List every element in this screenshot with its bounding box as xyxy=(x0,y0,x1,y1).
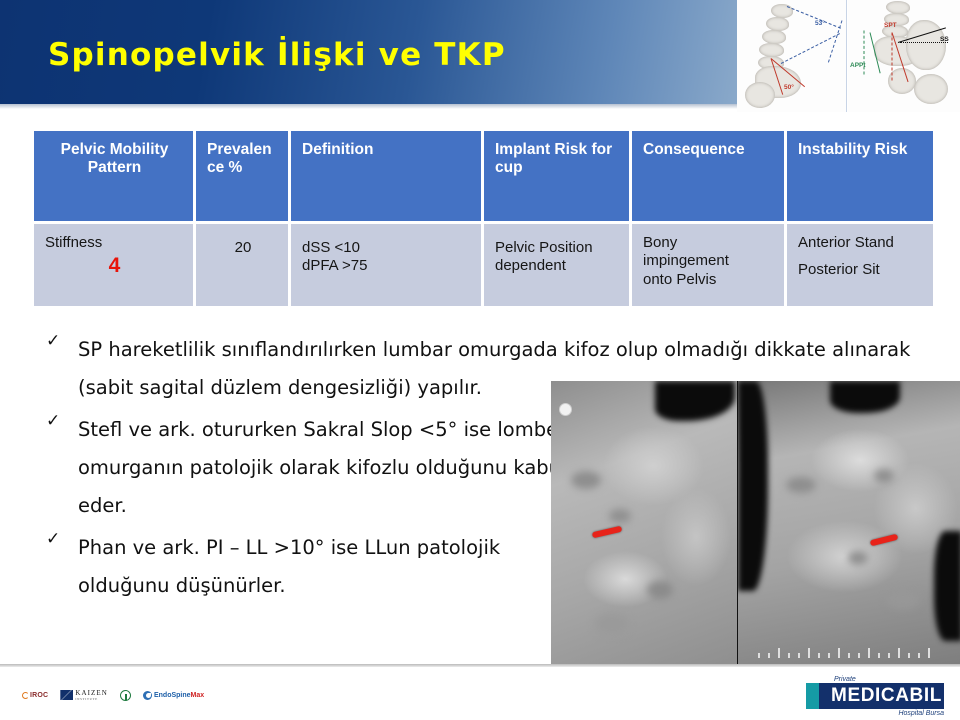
endospine-logo: EndoSpineMax xyxy=(143,691,204,700)
column-header-implant-risk: Implant Risk for cup xyxy=(484,131,632,221)
page-title: Spinopelvik İlişki ve TKP xyxy=(48,37,506,73)
title-banner-shadow xyxy=(0,104,737,109)
xray-image-left xyxy=(551,381,737,664)
list-item: ✓ Phan ve ark. PI – LL >10° ise LLun pat… xyxy=(40,529,570,605)
quality-circle-icon xyxy=(120,690,131,701)
endospine-text-b: Spine xyxy=(171,692,190,699)
xray-image-right xyxy=(738,381,960,664)
label-appt: APPt xyxy=(850,62,866,69)
endospine-text-c: Max xyxy=(191,692,205,699)
kaizen-logo-sub: INSTITUTE xyxy=(75,697,108,701)
implant-risk-line-1: Pelvic Position xyxy=(495,239,593,256)
instability-line-1: Anterior Stand xyxy=(798,234,894,251)
endospine-text-a: Endo xyxy=(154,692,172,699)
cell-instability-risk: Anterior Stand Posterior Sit xyxy=(787,224,933,306)
cell-pattern: Stiffness 4 xyxy=(34,224,196,306)
cell-prevalence: 20 xyxy=(196,224,291,306)
lateral-lumbar-xray-pair xyxy=(551,381,960,664)
quality-mark-logo xyxy=(120,690,131,701)
xray-annotation-line-right xyxy=(870,534,899,547)
medicabil-hospital-logo: Private MEDICABIL Hospital Bursa xyxy=(806,676,944,717)
implant-risk-line-2: dependent xyxy=(495,257,566,274)
bullet-text: Stefl ve ark. otururken Sakral Slop <5° … xyxy=(78,418,566,517)
label-spt: SPT xyxy=(884,22,897,29)
column-header-pelvic-mobility-pattern: Pelvic Mobility Pattern xyxy=(34,131,196,221)
definition-line-1: dSS <10 xyxy=(302,239,360,256)
slide-root: Spinopelvik İlişki ve TKP 53° 50° xyxy=(0,0,960,720)
footer-logo-group: IROC KAIZEN INSTITUTE EndoSpineMax xyxy=(22,684,204,706)
medicabil-teal-square-icon xyxy=(806,683,819,709)
kaizen-institute-logo: KAIZEN INSTITUTE xyxy=(60,689,108,701)
medicabil-sub-label: Hospital Bursa xyxy=(806,710,944,717)
angle-label-53: 53° xyxy=(815,20,825,27)
medicabil-navy-square-icon xyxy=(819,683,829,709)
iroc-logo: IROC xyxy=(22,692,48,699)
list-item: ✓ Stefl ve ark. otururken Sakral Slop <5… xyxy=(40,411,570,525)
kaizen-mark-icon xyxy=(60,690,73,700)
definition-line-2: dPFA >75 xyxy=(302,257,367,274)
table-row: Stiffness 4 20 dSS <10 dPFA >75 Pelvic P… xyxy=(34,224,933,306)
table-header-row: Pelvic Mobility Pattern Prevalen ce % De… xyxy=(34,131,933,221)
consequence-line-2: impingement xyxy=(643,252,729,269)
check-icon: ✓ xyxy=(46,531,60,548)
consequence-line-1: Bony xyxy=(643,234,677,251)
spinopelvic-parameters-diagram: 53° 50° APPt SPT SS xyxy=(737,0,960,112)
check-icon: ✓ xyxy=(46,413,60,430)
endospine-mark-icon xyxy=(143,691,152,700)
column-header-definition: Definition xyxy=(291,131,484,221)
cell-definition: dSS <10 dPFA >75 xyxy=(291,224,484,306)
cell-consequence: Bony impingement onto Pelvis xyxy=(632,224,787,306)
cell-pattern-label: Stiffness xyxy=(45,234,102,251)
kaizen-logo-text: KAIZEN xyxy=(75,689,108,697)
column-header-instability-risk: Instability Risk xyxy=(787,131,933,221)
image-badge-icon xyxy=(559,403,572,416)
check-icon: ✓ xyxy=(46,333,60,350)
bullet-text: Phan ve ark. PI – LL >10° ise LLun patol… xyxy=(78,536,500,597)
diagram-pane-left: 53° 50° xyxy=(737,0,847,112)
column-header-consequence: Consequence xyxy=(632,131,787,221)
footer-divider xyxy=(0,664,960,667)
instability-line-2: Posterior Sit xyxy=(798,261,880,278)
xray-scale-ruler xyxy=(758,648,938,658)
diagram-pane-right: APPt SPT SS xyxy=(848,0,960,112)
medicabil-private-label: Private xyxy=(834,676,944,683)
iroc-logo-text: IROC xyxy=(30,692,48,699)
consequence-line-3: onto Pelvis xyxy=(643,271,716,288)
column-header-prevalence: Prevalen ce % xyxy=(196,131,291,221)
pelvic-mobility-table: Pelvic Mobility Pattern Prevalen ce % De… xyxy=(34,131,933,306)
label-ss: SS xyxy=(940,36,949,43)
cell-implant-risk: Pelvic Position dependent xyxy=(484,224,632,306)
angle-label-50: 50° xyxy=(784,84,794,91)
medicabil-name: MEDICABIL xyxy=(829,683,944,709)
cell-pattern-marker: 4 xyxy=(45,254,184,279)
xray-annotation-line-left xyxy=(592,526,623,539)
